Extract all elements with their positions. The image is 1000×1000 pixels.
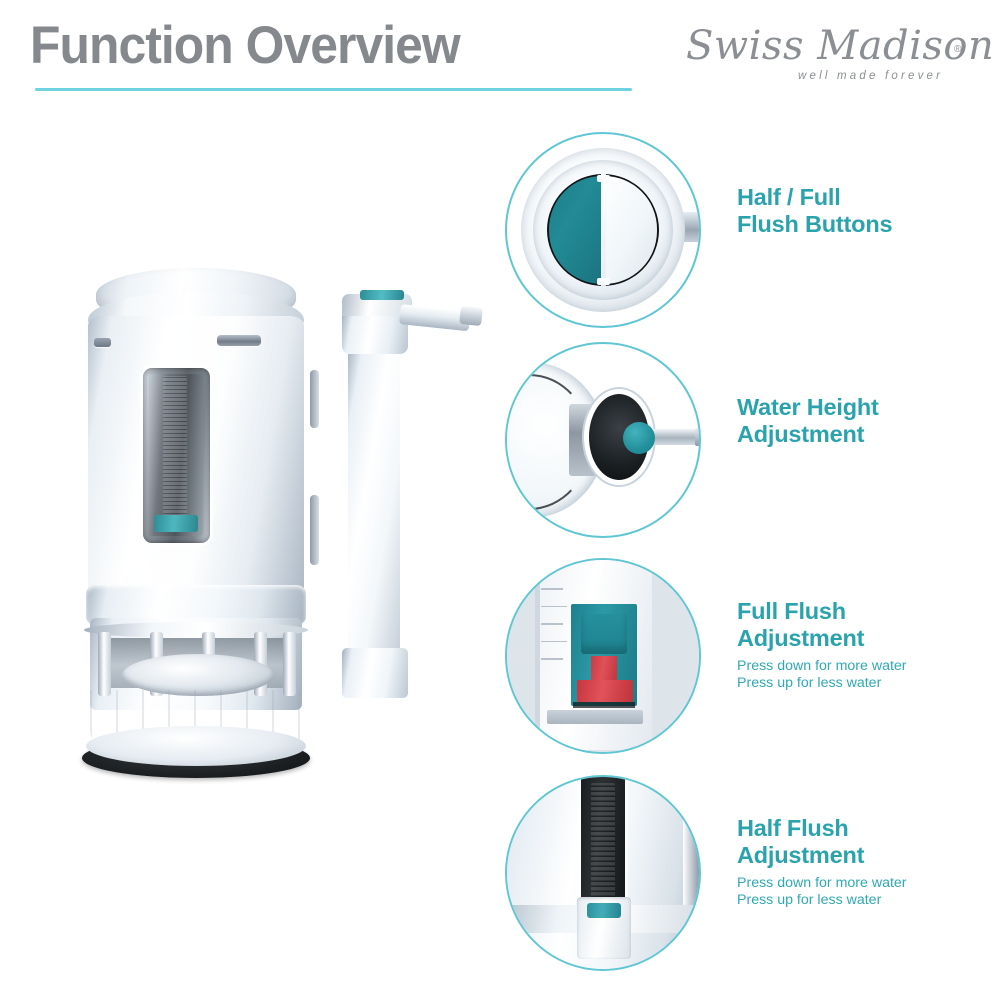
full-flush-ribbed-column <box>579 560 629 606</box>
flush-button-plate-illustration <box>507 134 699 326</box>
product-base-ring <box>86 726 306 766</box>
half-flush-slider-tab[interactable] <box>587 903 621 918</box>
callout-subtitle-line1: Press down for more water <box>737 658 1000 675</box>
brand-name: Swiss Madison <box>686 24 994 68</box>
callout-title: Half Flush Adjustment <box>737 815 1000 869</box>
full-flush-base-slot <box>547 710 643 724</box>
full-flush-bracket-recess <box>581 614 627 654</box>
callout-text-flush-buttons: Half / Full Flush Buttons <box>737 184 1000 238</box>
water-height-knob-illustration <box>507 344 699 536</box>
brand-tagline: well made forever <box>798 70 943 82</box>
flush-button-divider <box>601 174 606 286</box>
brand-logo: Swiss Madison ® well made forever <box>686 24 976 94</box>
scale-mark <box>541 606 567 608</box>
callout-title: Half / Full Flush Buttons <box>737 184 1000 238</box>
callout-title-line1: Full Flush <box>737 598 1000 625</box>
product-half-flush-slider <box>163 376 187 526</box>
full-flush-red-clip[interactable] <box>577 680 633 702</box>
product-vent-right <box>217 335 261 346</box>
product-standpipe <box>348 345 400 665</box>
callout-bubble-flush-buttons <box>505 132 701 328</box>
callout-bubble-water-height <box>505 342 701 538</box>
callout-title-line2: Flush Buttons <box>737 211 1000 238</box>
callout-title-line1: Half / Full <box>737 184 1000 211</box>
callout-text-half-flush: Half Flush Adjustment Press down for mor… <box>737 815 1000 909</box>
callout-subtitle: Press down for more water Press up for l… <box>737 658 1000 692</box>
product-cage-post <box>283 632 296 696</box>
water-height-rod-tip <box>695 428 701 446</box>
page-title: Function Overview <box>30 17 460 75</box>
callout-title-line2: Adjustment <box>737 842 1000 869</box>
registered-trademark-icon: ® <box>954 44 961 55</box>
water-height-adjustment-knob[interactable] <box>623 422 655 454</box>
title-underline-rule <box>35 88 632 91</box>
product-teal-cap <box>360 290 404 300</box>
product-vent-left <box>94 338 111 347</box>
page-header: Function Overview Swiss Madison ® well m… <box>0 0 1000 110</box>
flush-button-nub-top <box>597 175 610 182</box>
callout-bubble-half-flush <box>505 775 701 971</box>
scale-mark <box>541 658 563 660</box>
callout-subtitle: Press down for more water Press up for l… <box>737 875 1000 909</box>
full-flush-scale-marks <box>541 588 571 680</box>
scale-mark <box>541 588 563 590</box>
scale-mark <box>541 623 563 625</box>
callout-bubble-full-flush <box>505 558 701 754</box>
scale-mark <box>541 641 567 643</box>
full-flush-slider-illustration <box>507 560 699 752</box>
product-image <box>60 250 480 820</box>
product-rib-lower <box>310 495 319 565</box>
callout-title-line1: Half Flush <box>737 815 1000 842</box>
callout-text-water-height: Water Height Adjustment <box>737 394 1000 448</box>
callout-subtitle-line1: Press down for more water <box>737 875 1000 892</box>
product-rib-upper <box>310 370 319 428</box>
callout-subtitle-line2: Press up for less water <box>737 675 1000 692</box>
product-standpipe-foot <box>342 648 408 698</box>
callout-title-line2: Adjustment <box>737 625 1000 652</box>
half-flush-ribbed-slider[interactable] <box>591 783 615 907</box>
half-flush-slider-illustration <box>507 777 699 969</box>
water-height-rod <box>647 429 701 445</box>
half-flush-edge-shadow <box>683 775 699 971</box>
flush-button-plate <box>547 174 659 286</box>
product-cage-top-ring <box>84 622 308 638</box>
function-overview-page: Function Overview Swiss Madison ® well m… <box>0 0 1000 1000</box>
callout-title: Water Height Adjustment <box>737 394 1000 448</box>
callout-subtitle-line2: Press up for less water <box>737 892 1000 909</box>
product-refill-spout-tip <box>459 306 483 326</box>
callout-title: Full Flush Adjustment <box>737 598 1000 652</box>
callout-title-line1: Water Height <box>737 394 1000 421</box>
flush-button-nub-bottom <box>597 278 610 285</box>
product-cage-post <box>98 632 111 696</box>
product-half-flush-slider-tab <box>154 515 198 532</box>
callout-title-line2: Adjustment <box>737 421 1000 448</box>
full-flush-shadow-bar <box>573 702 635 708</box>
callout-text-full-flush: Full Flush Adjustment Press down for mor… <box>737 598 1000 692</box>
